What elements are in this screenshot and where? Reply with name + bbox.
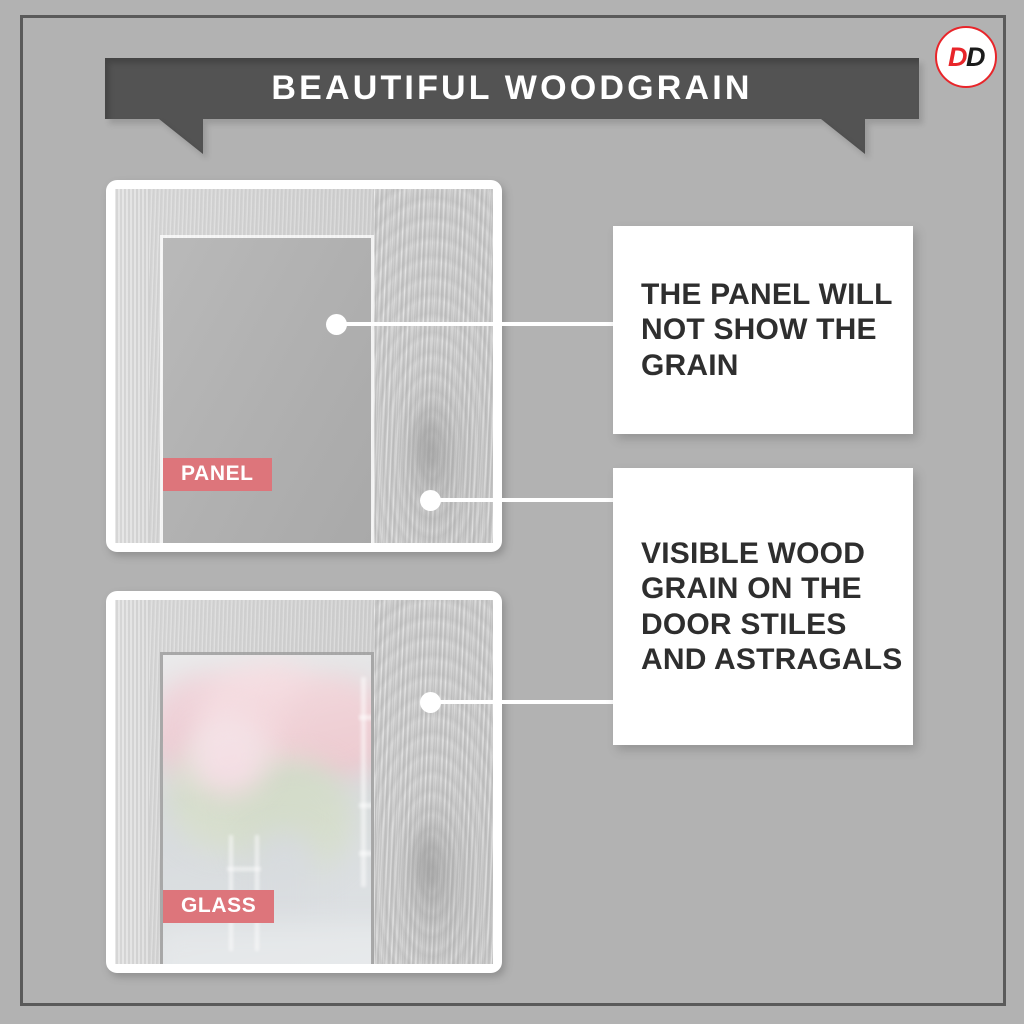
reflected-window-bar xyxy=(359,715,371,720)
panel-tag: PANEL xyxy=(163,458,272,491)
glass-tag: GLASS xyxy=(163,890,274,923)
panel-photo: PANEL xyxy=(115,189,493,543)
reflected-window-bar xyxy=(359,803,371,808)
connector-line-grain-bottom xyxy=(436,700,616,704)
door-jamb-reeding xyxy=(115,600,149,964)
connector-line-grain-top xyxy=(436,498,616,502)
callout-grain: VISIBLE WOOD GRAIN ON THE DOOR STILES AN… xyxy=(613,468,913,745)
reflected-window-bar xyxy=(359,851,371,856)
header-ribbon: BEAUTIFUL WOODGRAIN xyxy=(105,58,919,154)
dd-logo: DD xyxy=(935,26,997,88)
callout-panel: THE PANEL WILL NOT SHOW THE GRAIN xyxy=(613,226,913,434)
connector-dot-panel xyxy=(326,314,347,335)
stile-woodgrain xyxy=(374,600,493,964)
panel-photo-card: PANEL xyxy=(106,180,502,552)
logo-letter-first: D xyxy=(948,42,966,72)
panel-opening xyxy=(160,235,374,543)
flat-panel-surface xyxy=(163,238,371,543)
glass-photo: GLASS xyxy=(115,600,493,964)
page-title: BEAUTIFUL WOODGRAIN xyxy=(105,58,919,119)
reflected-window-bar xyxy=(227,867,261,871)
glass-photo-card: GLASS xyxy=(106,591,502,973)
callout-grain-text: VISIBLE WOOD GRAIN ON THE DOOR STILES AN… xyxy=(613,536,913,676)
door-jamb-reeding xyxy=(115,189,149,543)
connector-dot-grain-top xyxy=(420,490,441,511)
connector-line-panel xyxy=(340,322,616,326)
callout-panel-text: THE PANEL WILL NOT SHOW THE GRAIN xyxy=(613,277,913,382)
logo-letter-second: D xyxy=(966,42,984,72)
connector-dot-grain-bottom xyxy=(420,692,441,713)
